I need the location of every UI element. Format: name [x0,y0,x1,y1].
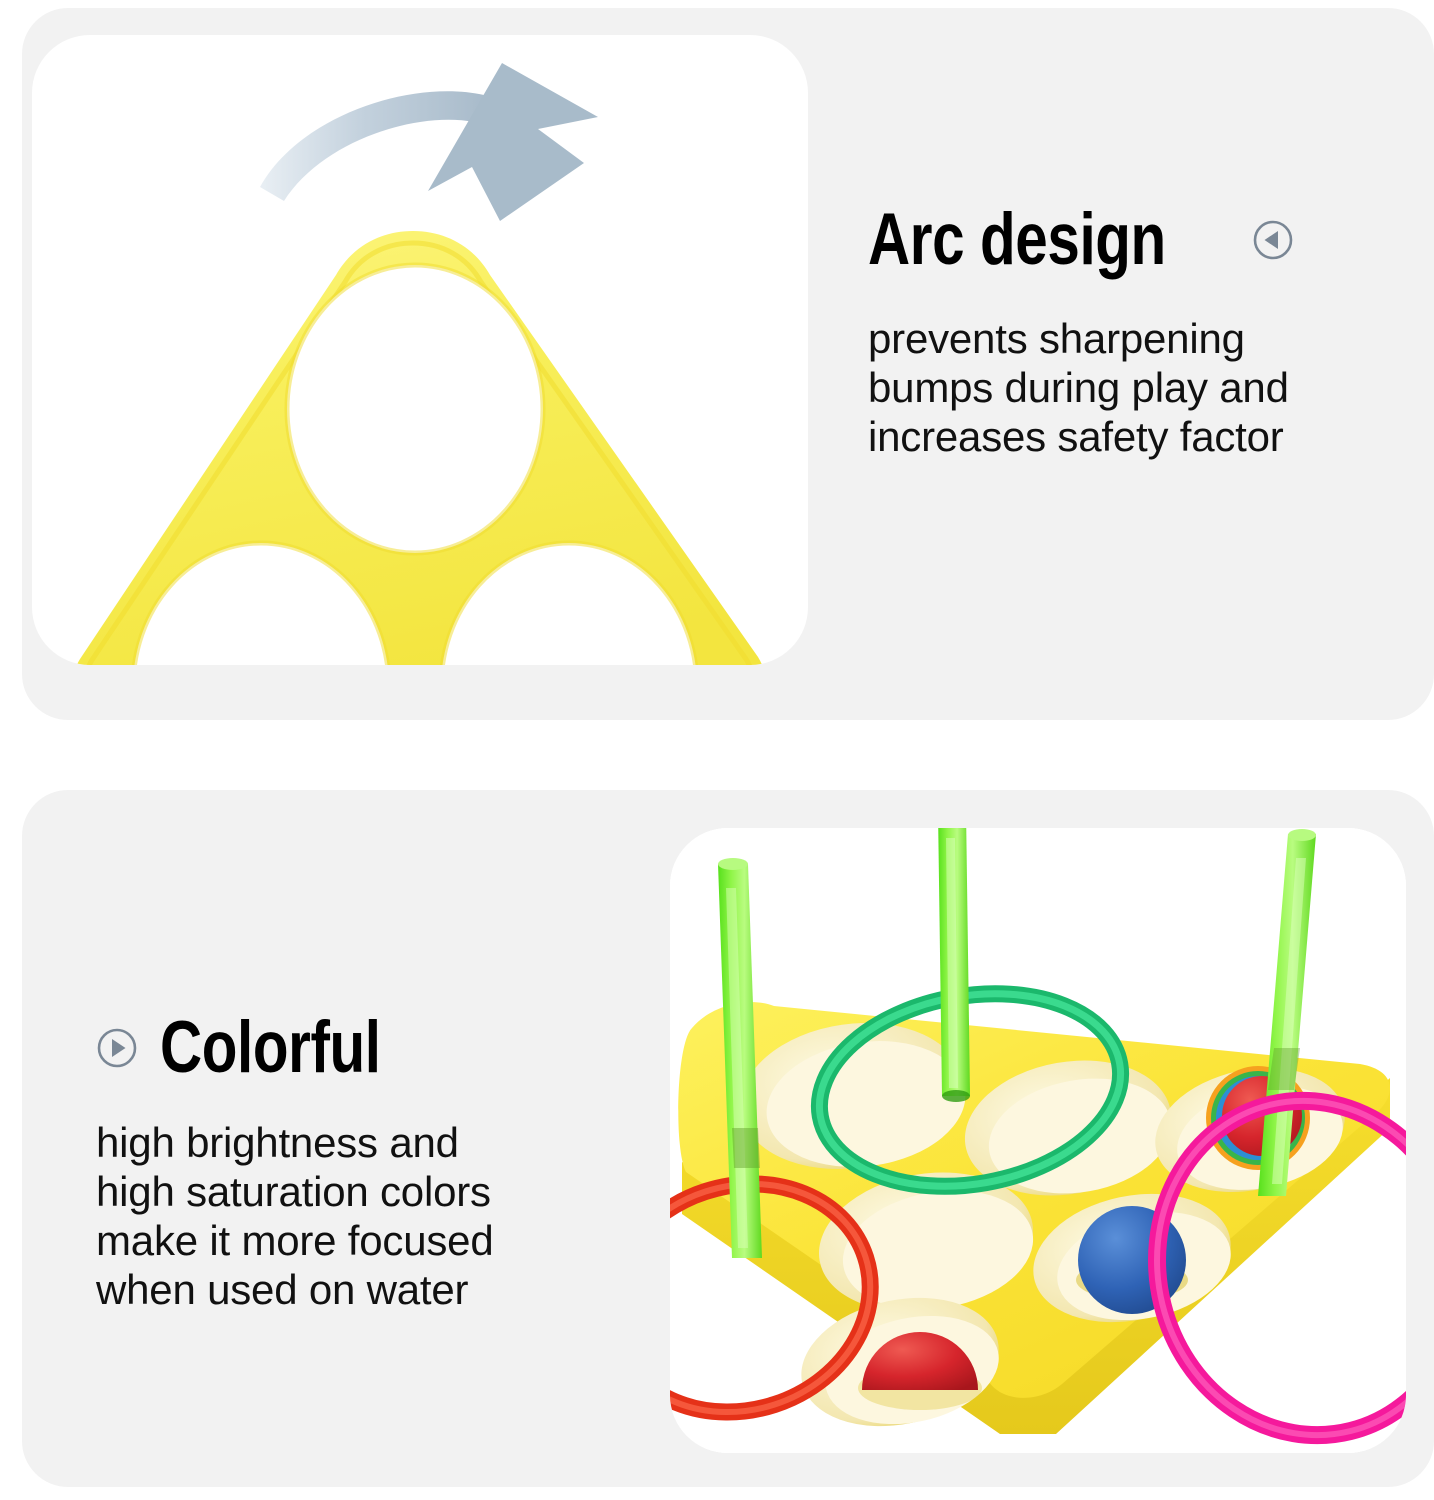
arc-design-illustration [32,35,808,665]
green-post-middle [938,828,970,1102]
colorful-body: high brightness and high saturation colo… [96,1118,496,1315]
arc-design-body: prevents sharpening bumps during play an… [868,314,1338,461]
colorful-photo-card [670,828,1406,1453]
colorful-text-block: Colorful high brightness and high satura… [96,1012,616,1314]
colorful-heading-row: Colorful [96,1012,616,1084]
arc-design-text-block: Arc design prevents sharpening bumps dur… [868,204,1408,461]
curved-arrow-icon [260,63,598,221]
triangle-left-circle-icon[interactable] [1252,219,1294,261]
ring-toss-photo [670,828,1406,1453]
arc-design-image-card [32,35,808,665]
triangle-right-circle-icon[interactable] [96,1027,138,1069]
panel-arc-design: Arc design prevents sharpening bumps dur… [22,8,1434,720]
colorful-heading: Colorful [160,1012,381,1084]
colorful-photo-stage [670,828,1406,1453]
arc-design-heading-row: Arc design [868,204,1408,276]
arc-design-heading: Arc design [868,204,1166,276]
